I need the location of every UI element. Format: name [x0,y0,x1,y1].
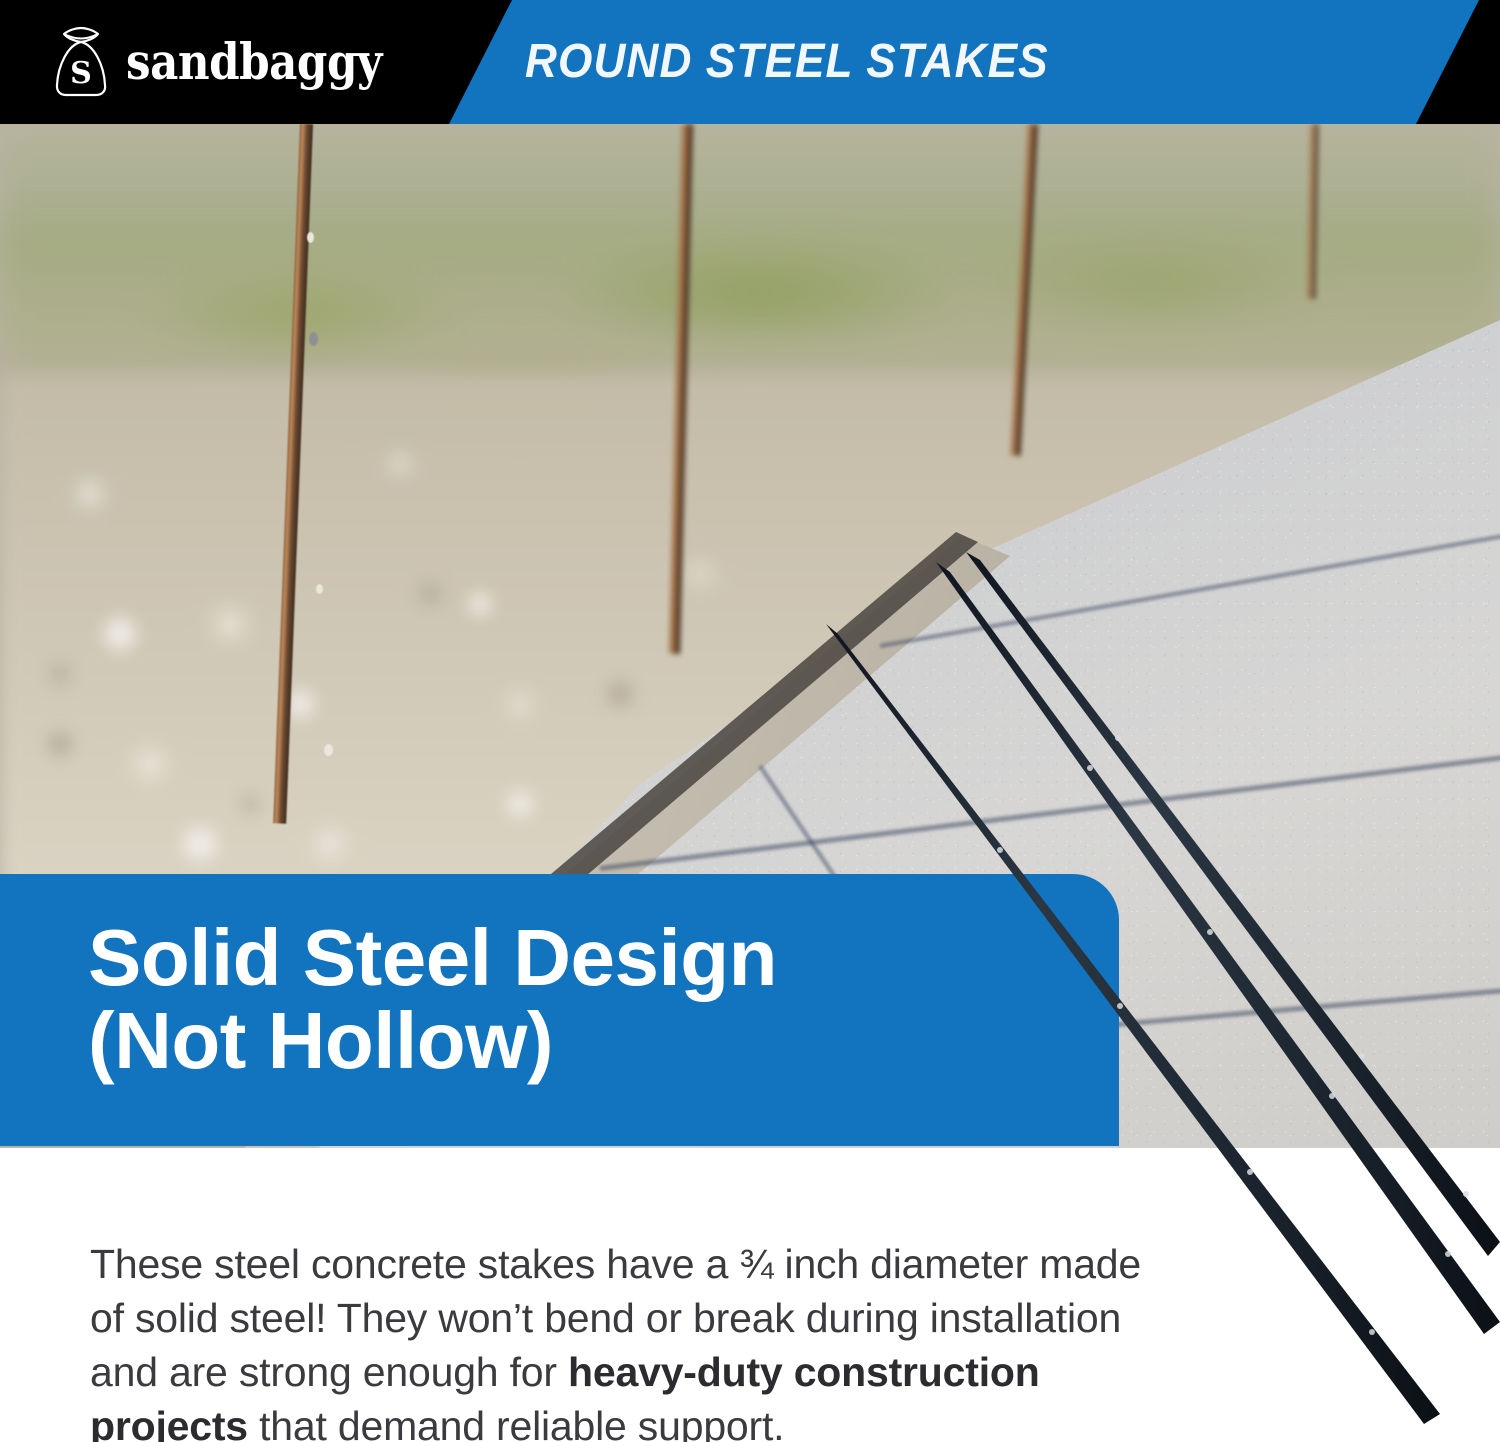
stake-speck [324,744,333,756]
sandbag-icon: S [50,25,112,99]
header-title: ROUND STEEL STAKES [525,34,1049,89]
stake-speck [309,332,318,346]
svg-text:S: S [70,56,92,91]
infographic-canvas: S SANDBAGGY ROUND STEEL STAKES [0,0,1500,1442]
stake-speck [307,232,314,243]
headline-line-1: Solid Steel Design [88,913,777,1002]
header-bar: S SANDBAGGY ROUND STEEL STAKES [0,0,1500,124]
headline-line-2: (Not Hollow) [88,999,1088,1082]
description-part-2: that demand reliable support. [248,1403,784,1442]
description-paragraph: These steel concrete stakes have a ¾ inc… [90,1237,1180,1442]
brand-logo[interactable]: S SANDBAGGY [50,22,390,102]
brand-wordmark: SANDBAGGY [126,37,382,87]
stake-speck [316,584,323,594]
headline-text: Solid Steel Design (Not Hollow) [88,916,1088,1082]
